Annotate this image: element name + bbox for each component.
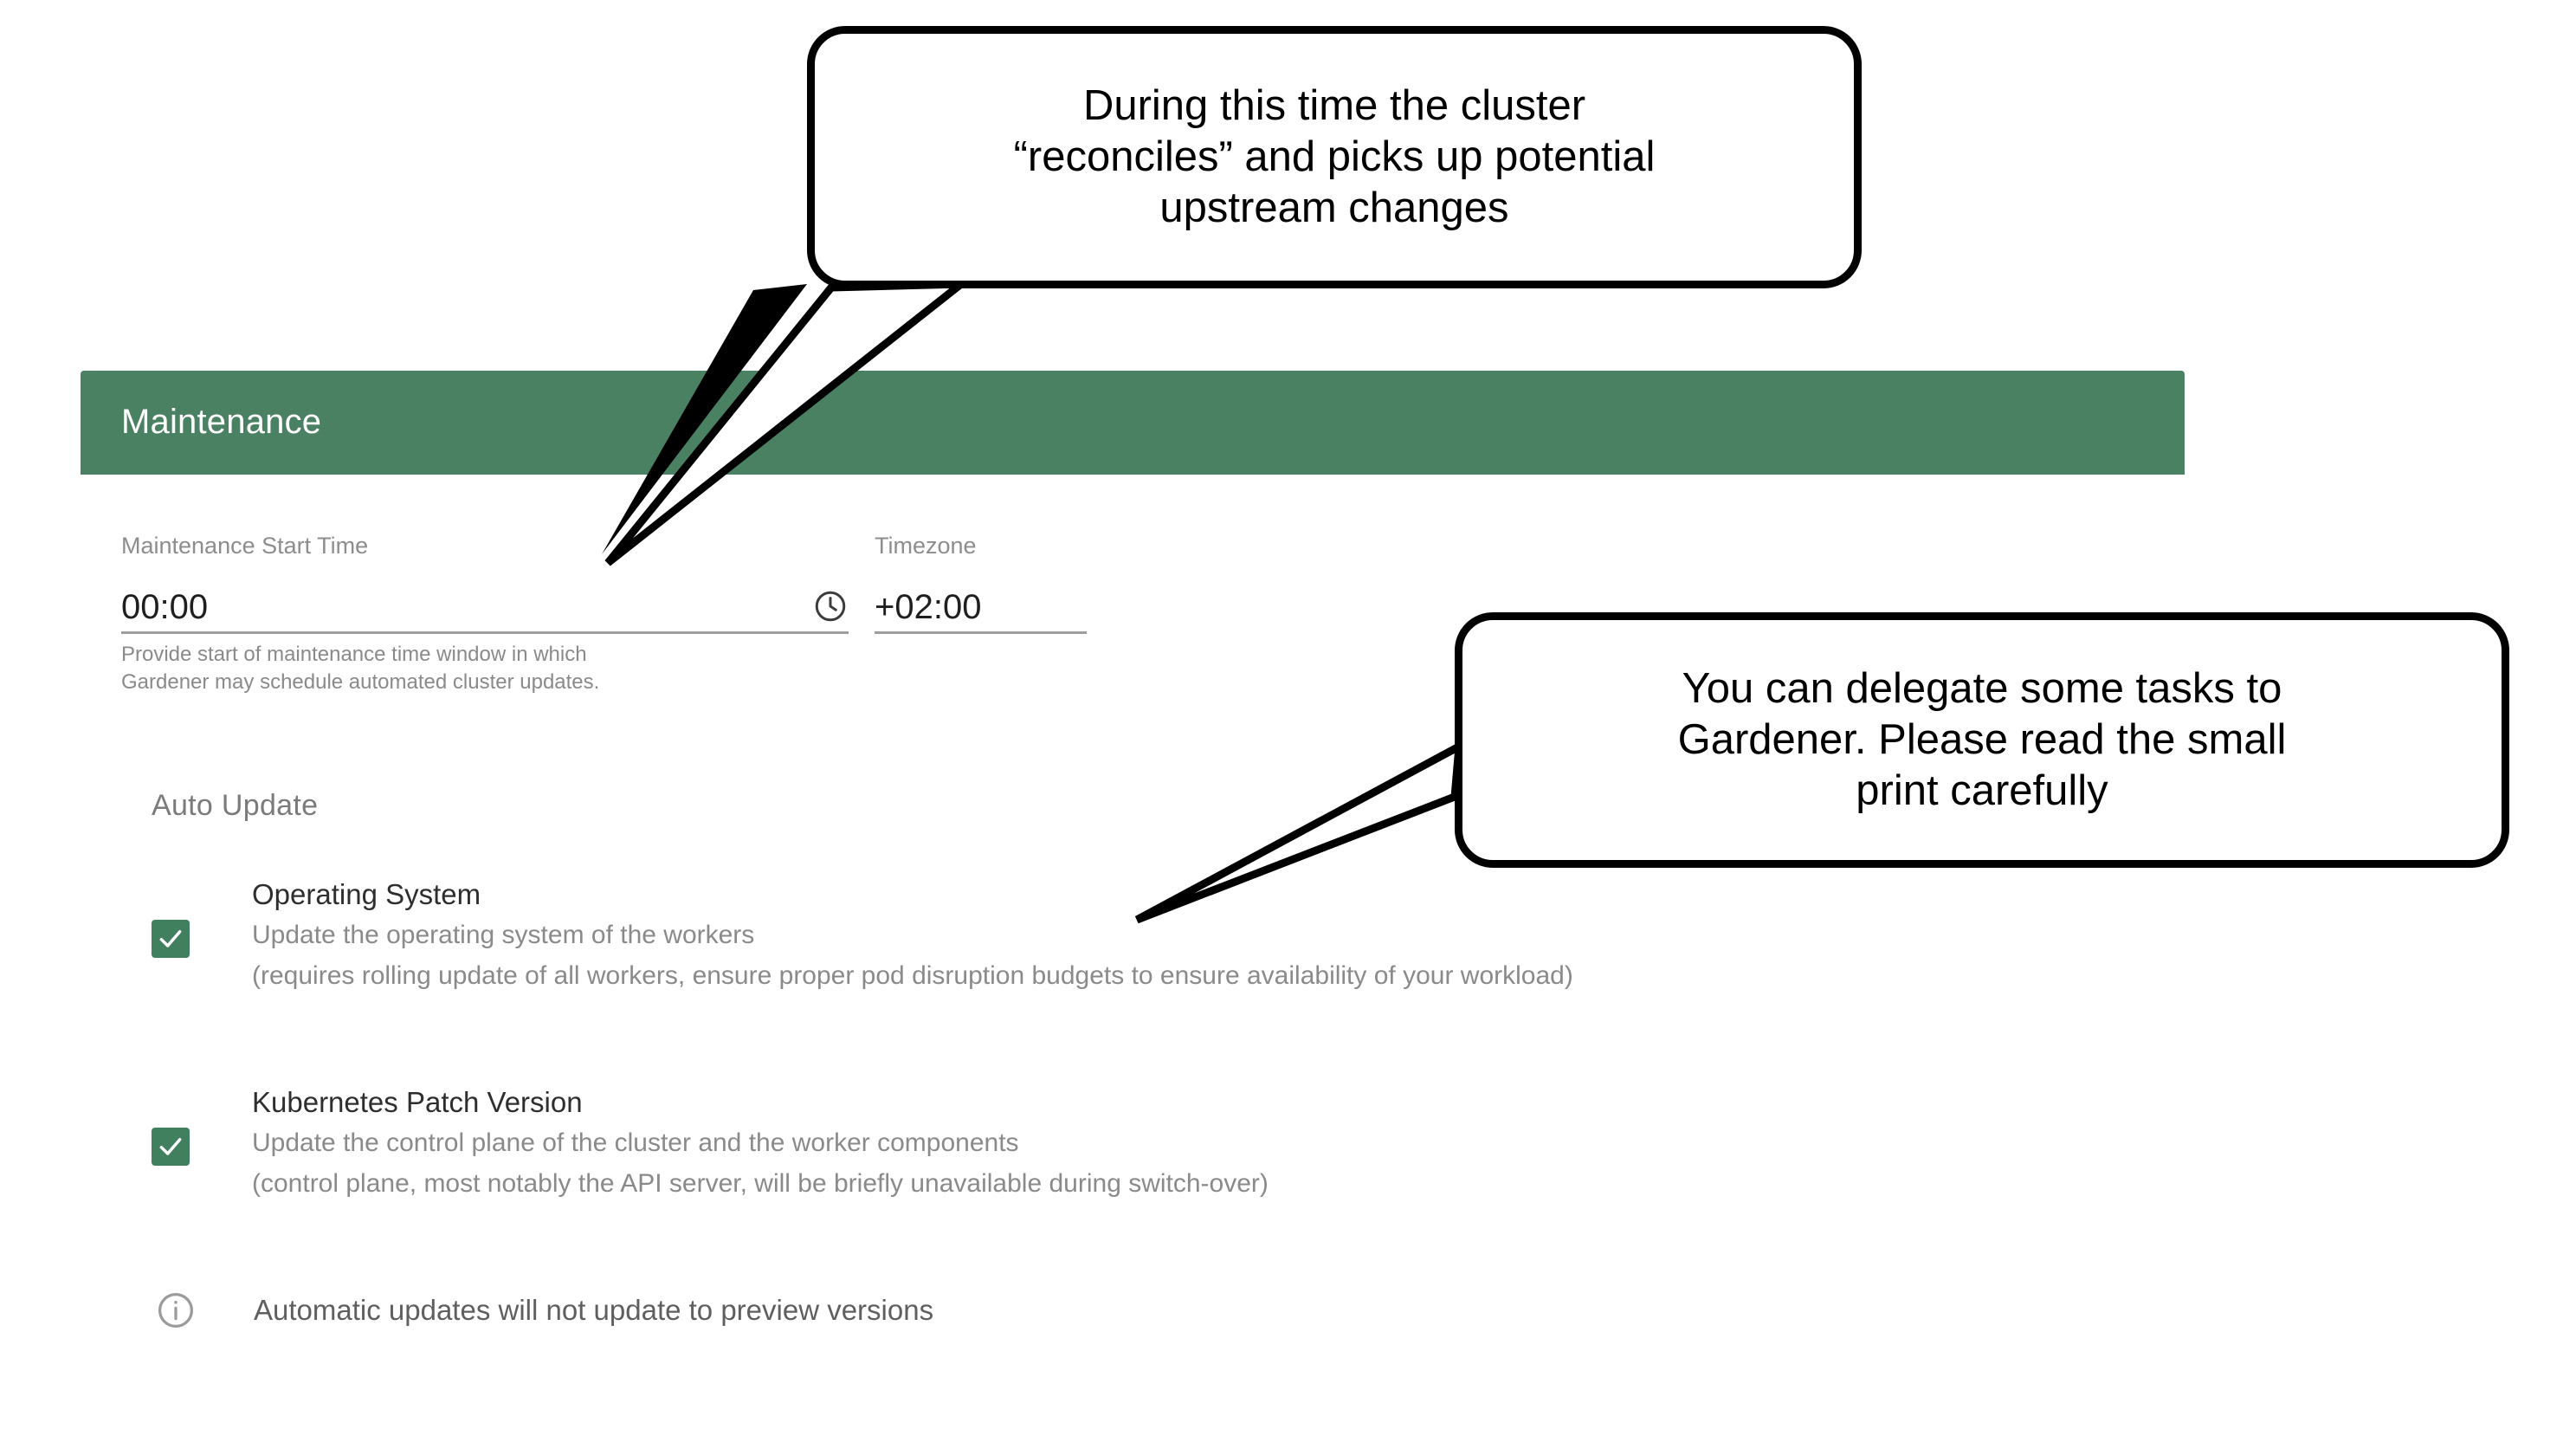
callout-2-line-1: You can delegate some tasks to xyxy=(1678,663,2287,714)
callout-1-line-3: upstream changes xyxy=(1014,183,1656,234)
checkbox-operating-system[interactable] xyxy=(152,920,190,958)
callout-1-line-1: During this time the cluster xyxy=(1014,81,1656,132)
checkbox-kubernetes-patch-version[interactable] xyxy=(152,1128,190,1166)
option-title-kubernetes-patch-version: Kubernetes Patch Version xyxy=(252,1083,1269,1122)
callout-maintenance-window: During this time the cluster “reconciles… xyxy=(807,26,1862,288)
auto-update-option-kubernetes-patch-version[interactable]: Kubernetes Patch Version Update the cont… xyxy=(152,1083,1269,1204)
callout-tail-1 xyxy=(554,242,1264,606)
callout-2-line-2: Gardener. Please read the small xyxy=(1678,714,2287,766)
callout-maintenance-window-text: During this time the cluster “reconciles… xyxy=(985,81,1685,234)
callout-2-line-3: print carefully xyxy=(1678,766,2287,817)
screenshot-root: Maintenance Maintenance Start Time 00:00… xyxy=(0,0,2576,1429)
option-desc-operating-system-line-2: (requires rolling update of all workers,… xyxy=(252,955,1573,996)
option-desc-kubernetes-patch-version-line-1: Update the control plane of the cluster … xyxy=(252,1122,1269,1163)
option-text-kubernetes-patch-version: Kubernetes Patch Version Update the cont… xyxy=(252,1083,1269,1204)
option-desc-kubernetes-patch-version-line-2: (control plane, most notably the API ser… xyxy=(252,1163,1269,1204)
preview-versions-info-row: Automatic updates will not update to pre… xyxy=(156,1290,933,1330)
callout-1-line-2: “reconciles” and picks up potential xyxy=(1014,132,1656,183)
callout-delegate-tasks: You can delegate some tasks to Gardener.… xyxy=(1455,612,2509,868)
callout-delegate-tasks-text: You can delegate some tasks to Gardener.… xyxy=(1649,663,2316,817)
page-title: Maintenance xyxy=(121,402,321,442)
maintenance-hint-line-1: Provide start of maintenance time window… xyxy=(121,641,840,669)
info-icon xyxy=(156,1290,196,1330)
maintenance-hint: Provide start of maintenance time window… xyxy=(121,641,840,696)
preview-versions-info-text: Automatic updates will not update to pre… xyxy=(254,1290,933,1330)
maintenance-hint-line-2: Gardener may schedule automated cluster … xyxy=(121,669,840,696)
auto-update-section-title: Auto Update xyxy=(152,788,318,823)
